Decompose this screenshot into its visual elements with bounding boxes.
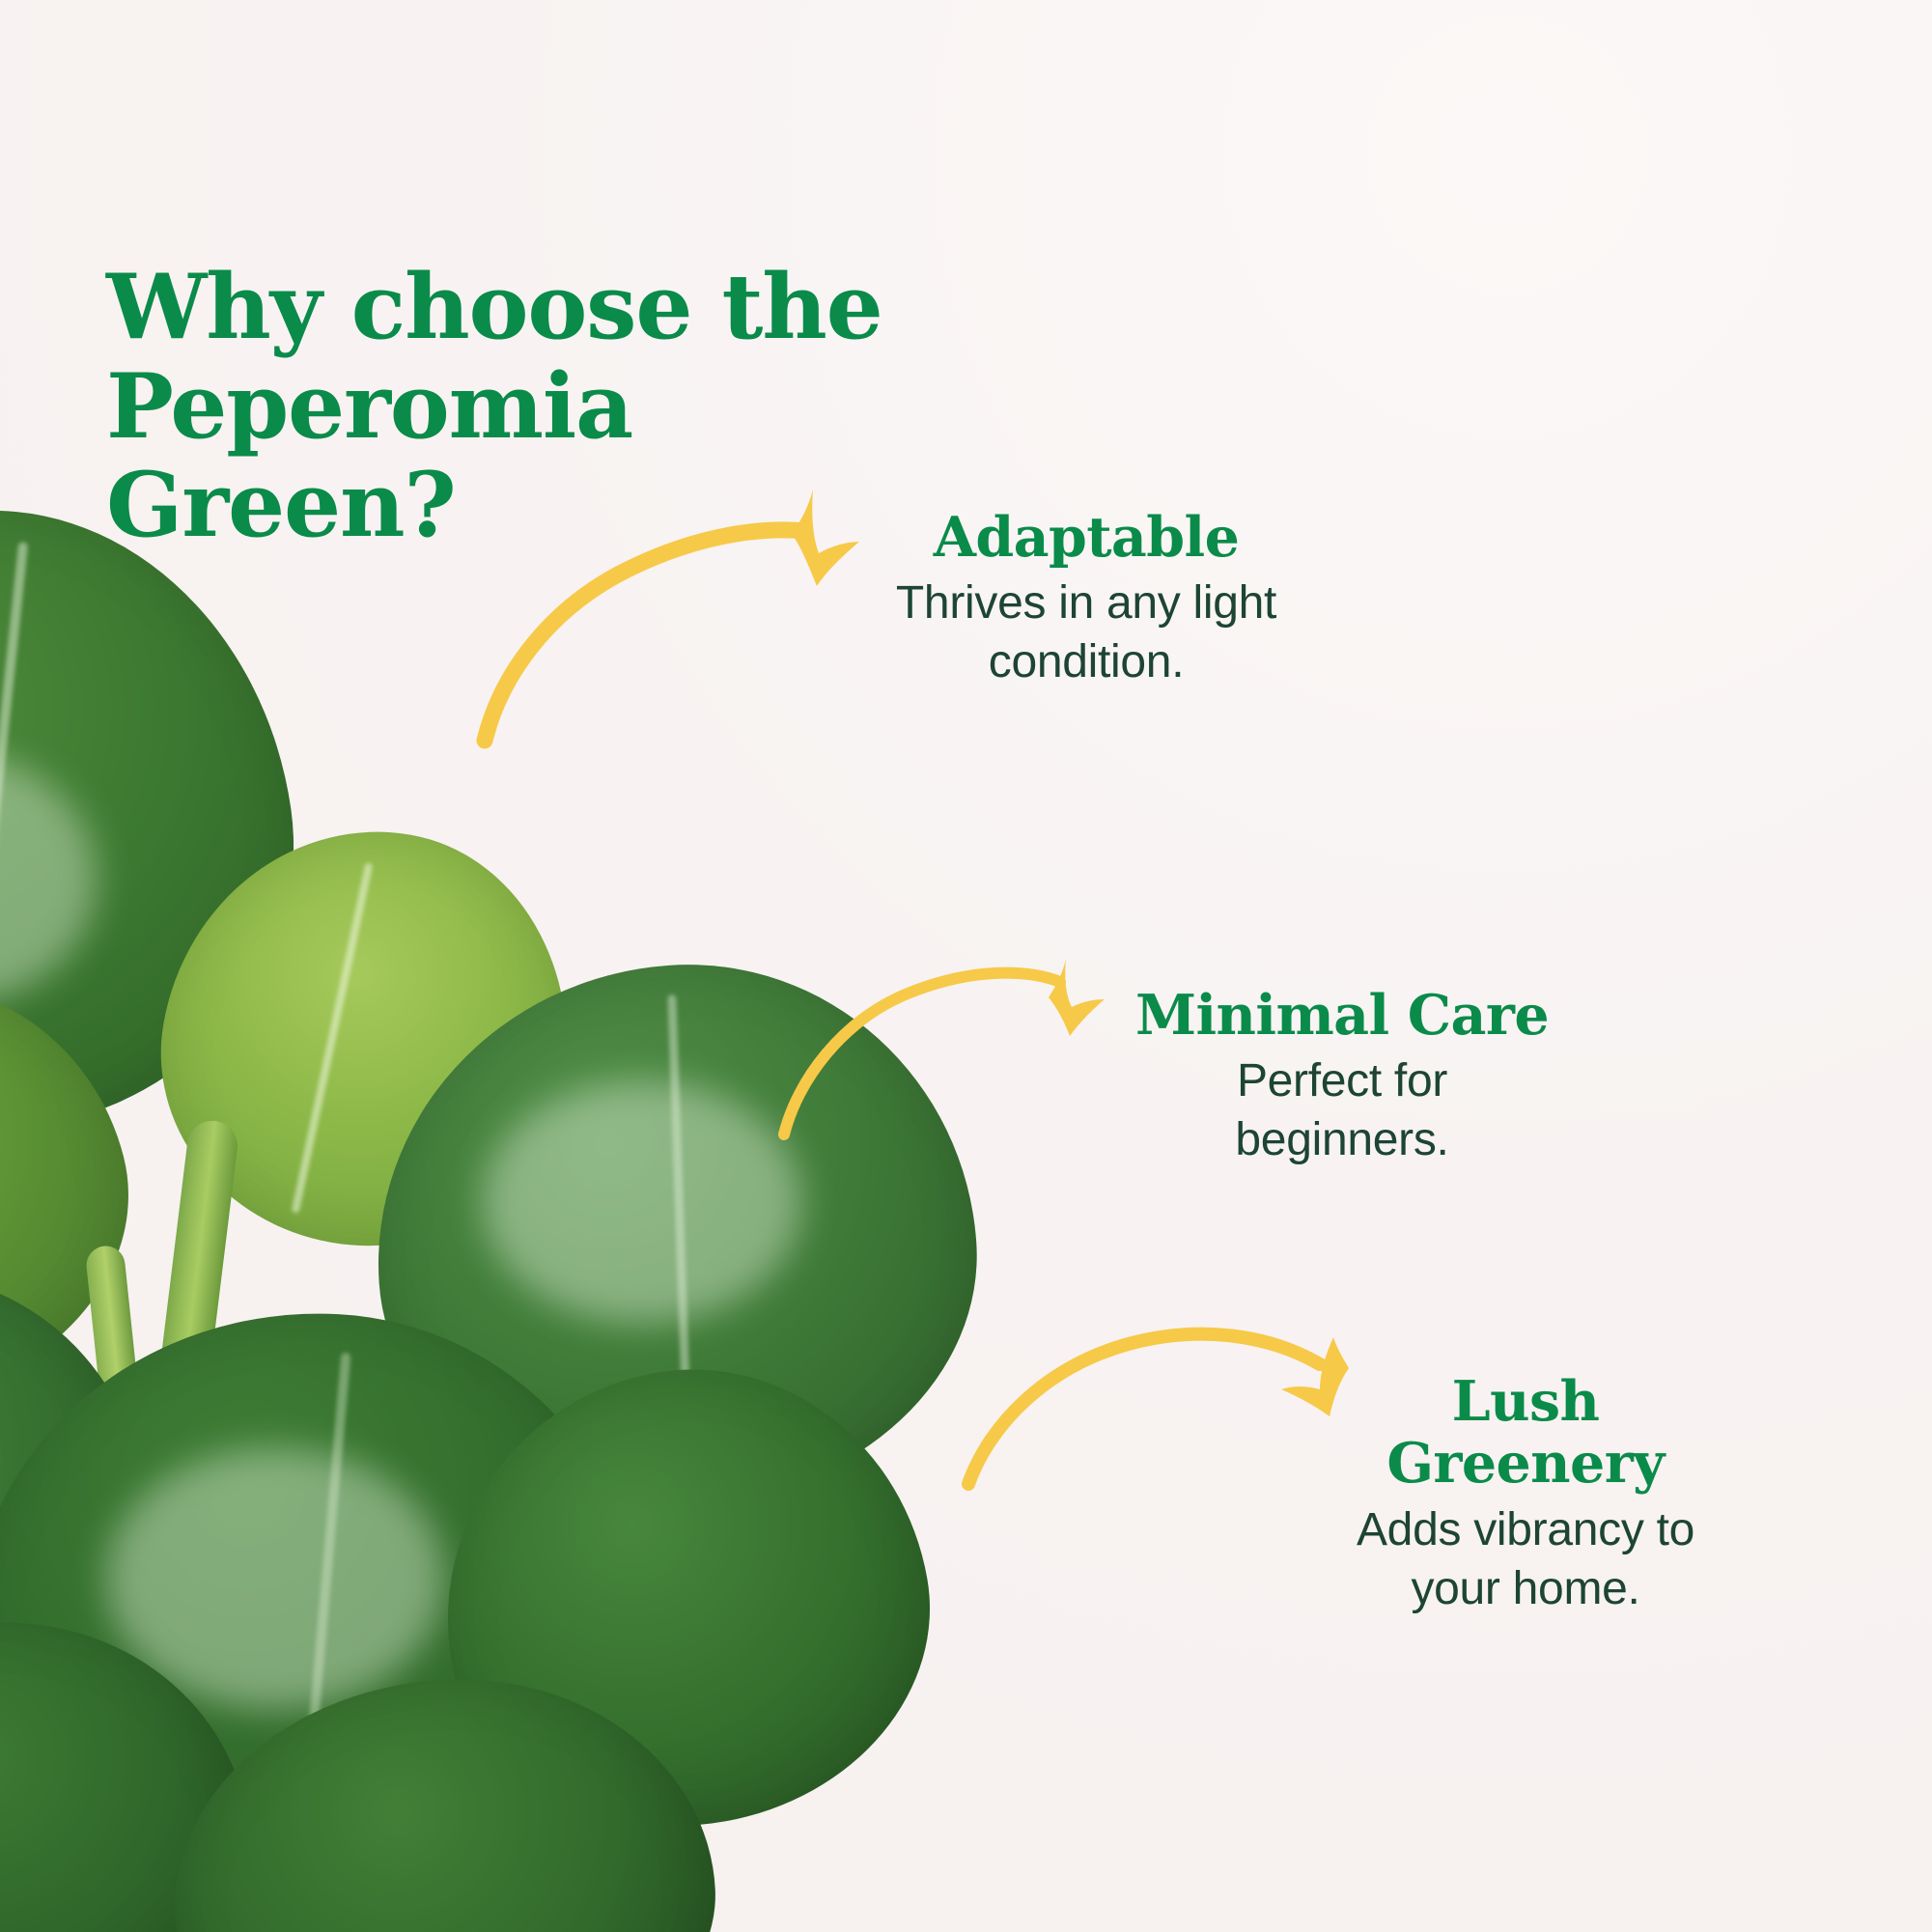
callout-lush-greenery: Lush Greenery Adds vibrancy to your home… [1308,1371,1743,1619]
callout-adaptable: Adaptable Thrives in any light condition… [850,507,1323,692]
callout-body: Perfect for beginners. [1110,1052,1574,1170]
callout-heading: Lush Greenery [1308,1371,1743,1496]
callout-heading: Adaptable [850,507,1323,569]
callout-body: Thrives in any light condition. [850,574,1323,692]
infographic-canvas: Why choose the Peperomia Green? Adaptabl… [0,0,1932,1932]
leaf-gloss [106,1448,444,1709]
leaf-gloss [483,1081,801,1323]
peperomia-plant-photo [0,579,1004,1932]
callout-body: Adds vibrancy to your home. [1308,1501,1743,1619]
callout-heading: Minimal Care [1110,985,1574,1047]
callout-minimal-care: Minimal Care Perfect for beginners. [1110,985,1574,1170]
